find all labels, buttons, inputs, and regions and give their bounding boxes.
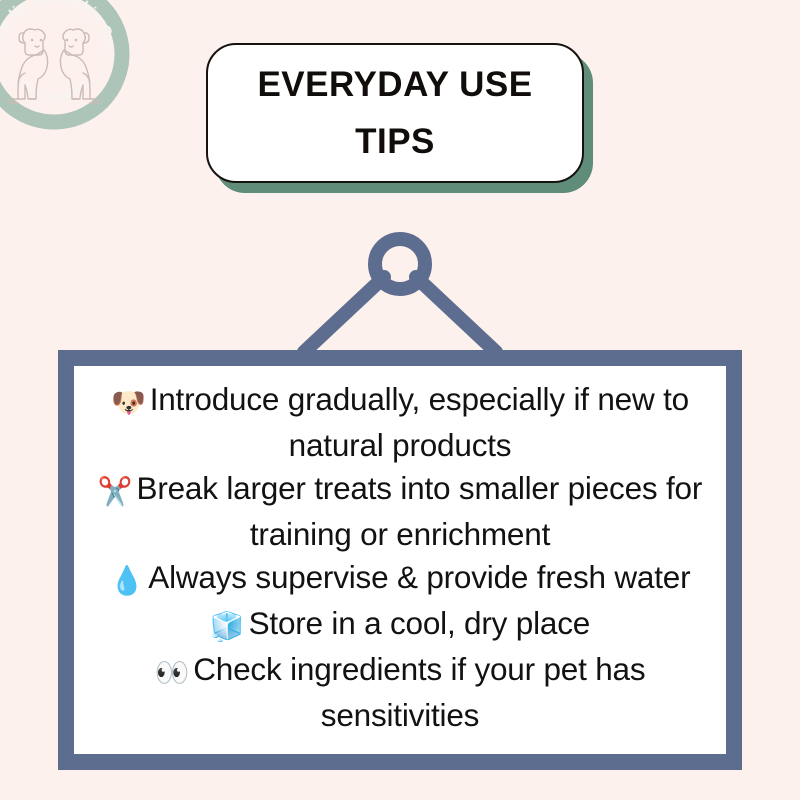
tip-text: Check ingredients if your pet has sensit…: [193, 651, 645, 733]
svg-text:Charlie & Cookie Co.: Charlie & Cookie Co.: [0, 0, 119, 53]
svg-text:Dog Supplies: Dog Supplies: [17, 78, 90, 103]
banner-card: EVERYDAY USE TIPS: [206, 43, 584, 183]
ice-cube-emoji: 🧊: [210, 611, 245, 642]
list-item: 🐶Introduce gradually, especially if new …: [84, 378, 716, 467]
tip-text: Break larger treats into smaller pieces …: [137, 470, 703, 552]
tip-text: Always supervise & provide fresh water: [148, 559, 690, 595]
list-item: ✂️Break larger treats into smaller piece…: [84, 467, 716, 556]
droplet-emoji: 💧: [110, 565, 145, 596]
tips-list: 🐶Introduce gradually, especially if new …: [84, 378, 716, 737]
watermark-brand-bottom: Dog Supplies: [17, 78, 90, 103]
dog-face-emoji: 🐶: [111, 387, 146, 418]
dog-line-art-right: [60, 29, 99, 103]
hanger-ring-icon: [375, 239, 425, 289]
tip-text: Store in a cool, dry place: [249, 605, 591, 641]
hanger-string-right: [416, 277, 496, 352]
sign-hanger: [280, 232, 520, 362]
list-item: 💧Always supervise & provide fresh water: [84, 556, 716, 602]
tip-text: Introduce gradually, especially if new t…: [150, 381, 689, 463]
brand-watermark: Charlie & Cookie Co. Dog Supplies: [0, 0, 130, 130]
hanger-string-left: [304, 277, 384, 352]
title-banner: EVERYDAY USE TIPS: [206, 43, 584, 183]
hanging-sign-frame: 🐶Introduce gradually, especially if new …: [58, 350, 742, 770]
eyes-emoji: 👀: [155, 657, 190, 688]
list-item: 🧊Store in a cool, dry place: [84, 602, 716, 648]
page-title: EVERYDAY USE TIPS: [257, 56, 532, 170]
list-item: 👀Check ingredients if your pet has sensi…: [84, 648, 716, 737]
scissors-emoji: ✂️: [98, 476, 133, 507]
sign-board: 🐶Introduce gradually, especially if new …: [74, 366, 726, 754]
dog-line-art-left: [9, 29, 48, 103]
watermark-brand-top: Charlie & Cookie Co.: [0, 0, 119, 53]
